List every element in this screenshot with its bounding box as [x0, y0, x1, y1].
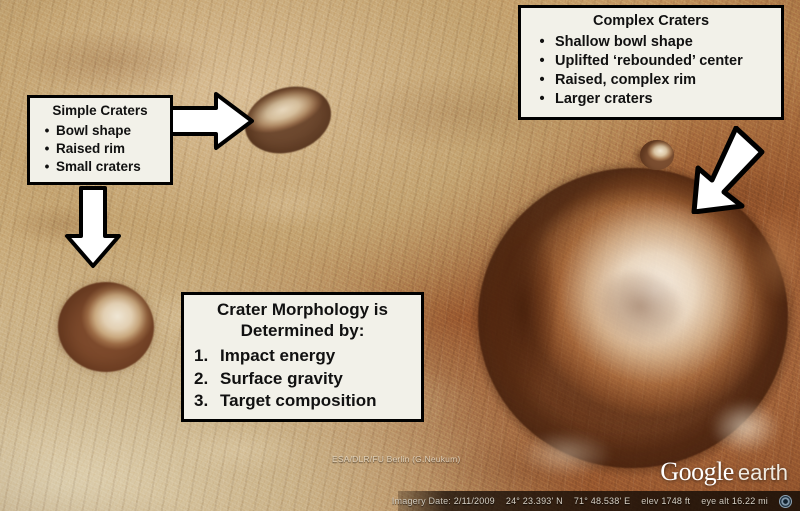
ejecta-patch	[506, 424, 626, 484]
callout-complex-craters-title: Complex Craters	[529, 13, 773, 30]
callout-crater-morphology-list: 1. Impact energy 2. Surface gravity 3. T…	[192, 345, 413, 411]
list-item: 2. Surface gravity	[192, 368, 413, 390]
list-item: • Shallow bowl shape	[529, 33, 773, 52]
globe-status-icon[interactable]	[779, 495, 792, 508]
list-item-label: Shallow bowl shape	[555, 33, 773, 52]
list-item: • Raised rim	[38, 140, 162, 158]
imagery-date: Imagery Date: 2/11/2009	[392, 496, 495, 506]
callout-complex-craters: Complex Craters • Shallow bowl shape • U…	[518, 5, 784, 120]
google-earth-logo: Google earth	[660, 457, 788, 487]
list-item: • Bowl shape	[38, 122, 162, 140]
list-item-label: Target composition	[220, 390, 413, 412]
callout-crater-morphology-title-line-1: Crater Morphology is	[192, 300, 413, 321]
bullet-icon: •	[38, 158, 56, 176]
list-item: • Larger craters	[529, 90, 773, 109]
callout-crater-morphology: Crater Morphology is Determined by: 1. I…	[181, 292, 424, 422]
elevation-readout: elev 1748 ft	[641, 496, 690, 506]
imagery-date-label: Imagery Date:	[392, 496, 451, 506]
list-item-label: Raised, complex rim	[555, 71, 773, 90]
callout-simple-craters-list: • Bowl shape • Raised rim • Small crater…	[38, 122, 162, 175]
bullet-icon: •	[38, 122, 56, 140]
bullet-icon: •	[529, 52, 555, 71]
list-item-label: Impact energy	[220, 345, 413, 367]
simple-crater-lower	[58, 282, 154, 372]
list-item-label: Small craters	[56, 158, 162, 176]
longitude-readout: 71° 48.538' E	[574, 496, 630, 506]
eye-altitude-label: eye alt	[701, 496, 729, 506]
google-earth-logo-google: Google	[660, 457, 734, 487]
eye-altitude-value: 16.22 mi	[732, 496, 768, 506]
imagery-attribution: ESA/DLR/FU Berlin (G.Neukum)	[332, 454, 460, 464]
list-item-label: Uplifted ‘rebounded’ center	[555, 52, 773, 71]
list-item: 3. Target composition	[192, 390, 413, 412]
arrow-simple-to-upper-crater-icon	[166, 90, 254, 152]
arrow-complex-to-crater-icon	[650, 126, 766, 214]
complex-crater-shadow	[476, 184, 568, 434]
status-bar: Imagery Date: 2/11/2009 24° 23.393' N 71…	[398, 491, 800, 511]
eye-altitude-readout: eye alt 16.22 mi	[701, 496, 768, 506]
arrow-simple-to-lower-crater-icon	[62, 186, 124, 268]
bullet-icon: •	[38, 140, 56, 158]
list-item-label: Surface gravity	[220, 368, 413, 390]
bullet-icon: •	[529, 90, 555, 109]
list-number: 1.	[192, 345, 220, 367]
list-number: 2.	[192, 368, 220, 390]
list-item: • Small craters	[38, 158, 162, 176]
callout-simple-craters-title: Simple Craters	[38, 103, 162, 119]
latitude-readout: 24° 23.393' N	[506, 496, 563, 506]
ejecta-patch	[700, 392, 790, 462]
callout-crater-morphology-title-line-2: Determined by:	[192, 321, 413, 342]
elevation-value: 1748 ft	[661, 496, 690, 506]
google-earth-viewport: Simple Craters • Bowl shape • Raised rim…	[0, 0, 800, 511]
list-item-label: Raised rim	[56, 140, 162, 158]
callout-simple-craters: Simple Craters • Bowl shape • Raised rim…	[27, 95, 173, 185]
list-item-label: Larger craters	[555, 90, 773, 109]
list-item: 1. Impact energy	[192, 345, 413, 367]
list-item: • Raised, complex rim	[529, 71, 773, 90]
bullet-icon: •	[529, 71, 555, 90]
imagery-date-value: 2/11/2009	[454, 496, 495, 506]
bullet-icon: •	[529, 33, 555, 52]
google-earth-logo-earth: earth	[738, 460, 788, 486]
list-item-label: Bowl shape	[56, 122, 162, 140]
list-number: 3.	[192, 390, 220, 412]
list-item: • Uplifted ‘rebounded’ center	[529, 52, 773, 71]
elevation-label: elev	[641, 496, 658, 506]
callout-complex-craters-list: • Shallow bowl shape • Uplifted ‘rebound…	[529, 33, 773, 110]
